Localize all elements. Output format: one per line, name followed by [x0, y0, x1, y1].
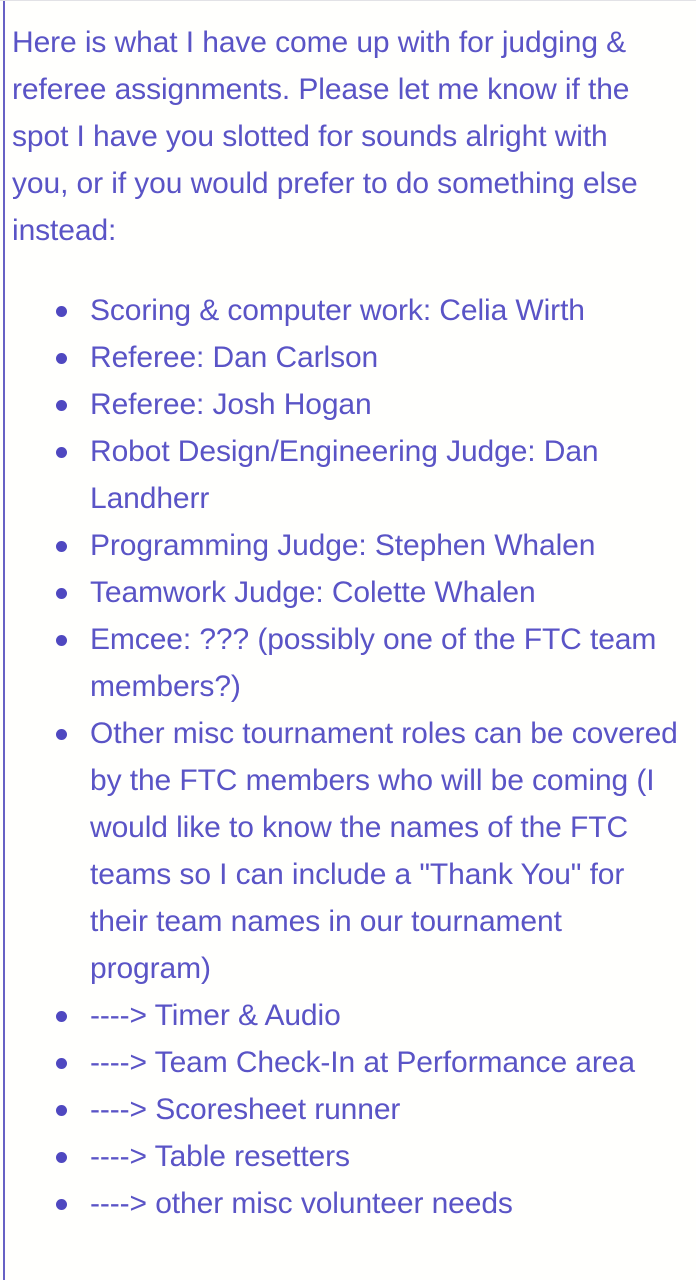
bullet-icon: [56, 447, 67, 458]
list-item: Referee: Dan Carlson: [0, 334, 678, 381]
list-item: Robot Design/Engineering Judge: Dan Land…: [0, 428, 678, 522]
bullet-icon: [56, 588, 67, 599]
list-item-label: Teamwork Judge: Colette Whalen: [90, 569, 678, 616]
bullet-icon: [56, 729, 67, 740]
list-item-label: Referee: Josh Hogan: [90, 381, 678, 428]
list-item: Other misc tournament roles can be cover…: [0, 710, 678, 992]
list-item: Scoring & computer work: Celia Wirth: [0, 287, 678, 334]
intro-paragraph: Here is what I have come up with for jud…: [0, 1, 696, 254]
list-item-label: ----> Table resetters: [90, 1133, 678, 1180]
list-item: Emcee: ??? (possibly one of the FTC team…: [0, 616, 678, 710]
list-item: ----> other misc volunteer needs: [0, 1180, 678, 1227]
bullet-icon: [56, 353, 67, 364]
bullet-icon: [56, 1058, 67, 1069]
list-item: ----> Table resetters: [0, 1133, 678, 1180]
bullet-icon: [56, 635, 67, 646]
list-item-label: ----> Team Check-In at Performance area: [90, 1039, 678, 1086]
bullet-icon: [56, 1152, 67, 1163]
list-item: ----> Team Check-In at Performance area: [0, 1039, 678, 1086]
list-item: Teamwork Judge: Colette Whalen: [0, 569, 678, 616]
bullet-icon: [56, 400, 67, 411]
bullet-icon: [56, 306, 67, 317]
list-item-label: ----> Timer & Audio: [90, 992, 678, 1039]
bullet-icon: [56, 541, 67, 552]
list-item-label: ----> other misc volunteer needs: [90, 1180, 678, 1227]
list-item-label: Robot Design/Engineering Judge: Dan Land…: [90, 428, 678, 522]
list-item: ----> Scoresheet runner: [0, 1086, 678, 1133]
bullet-icon: [56, 1199, 67, 1210]
list-item: Programming Judge: Stephen Whalen: [0, 522, 678, 569]
list-item-label: Emcee: ??? (possibly one of the FTC team…: [90, 616, 678, 710]
list-item-label: Programming Judge: Stephen Whalen: [90, 522, 678, 569]
quoted-message-block: Here is what I have come up with for jud…: [0, 0, 696, 1280]
list-item-label: Referee: Dan Carlson: [90, 334, 678, 381]
assignment-list: Scoring & computer work: Celia Wirth Ref…: [0, 254, 696, 1227]
list-item-label: Scoring & computer work: Celia Wirth: [90, 287, 678, 334]
bullet-icon: [56, 1105, 67, 1116]
list-item-label: Other misc tournament roles can be cover…: [90, 710, 678, 992]
bullet-icon: [56, 1011, 67, 1022]
list-item: ----> Timer & Audio: [0, 992, 678, 1039]
list-item: Referee: Josh Hogan: [0, 381, 678, 428]
list-item-label: ----> Scoresheet runner: [90, 1086, 678, 1133]
message-content: Here is what I have come up with for jud…: [0, 1, 696, 1227]
